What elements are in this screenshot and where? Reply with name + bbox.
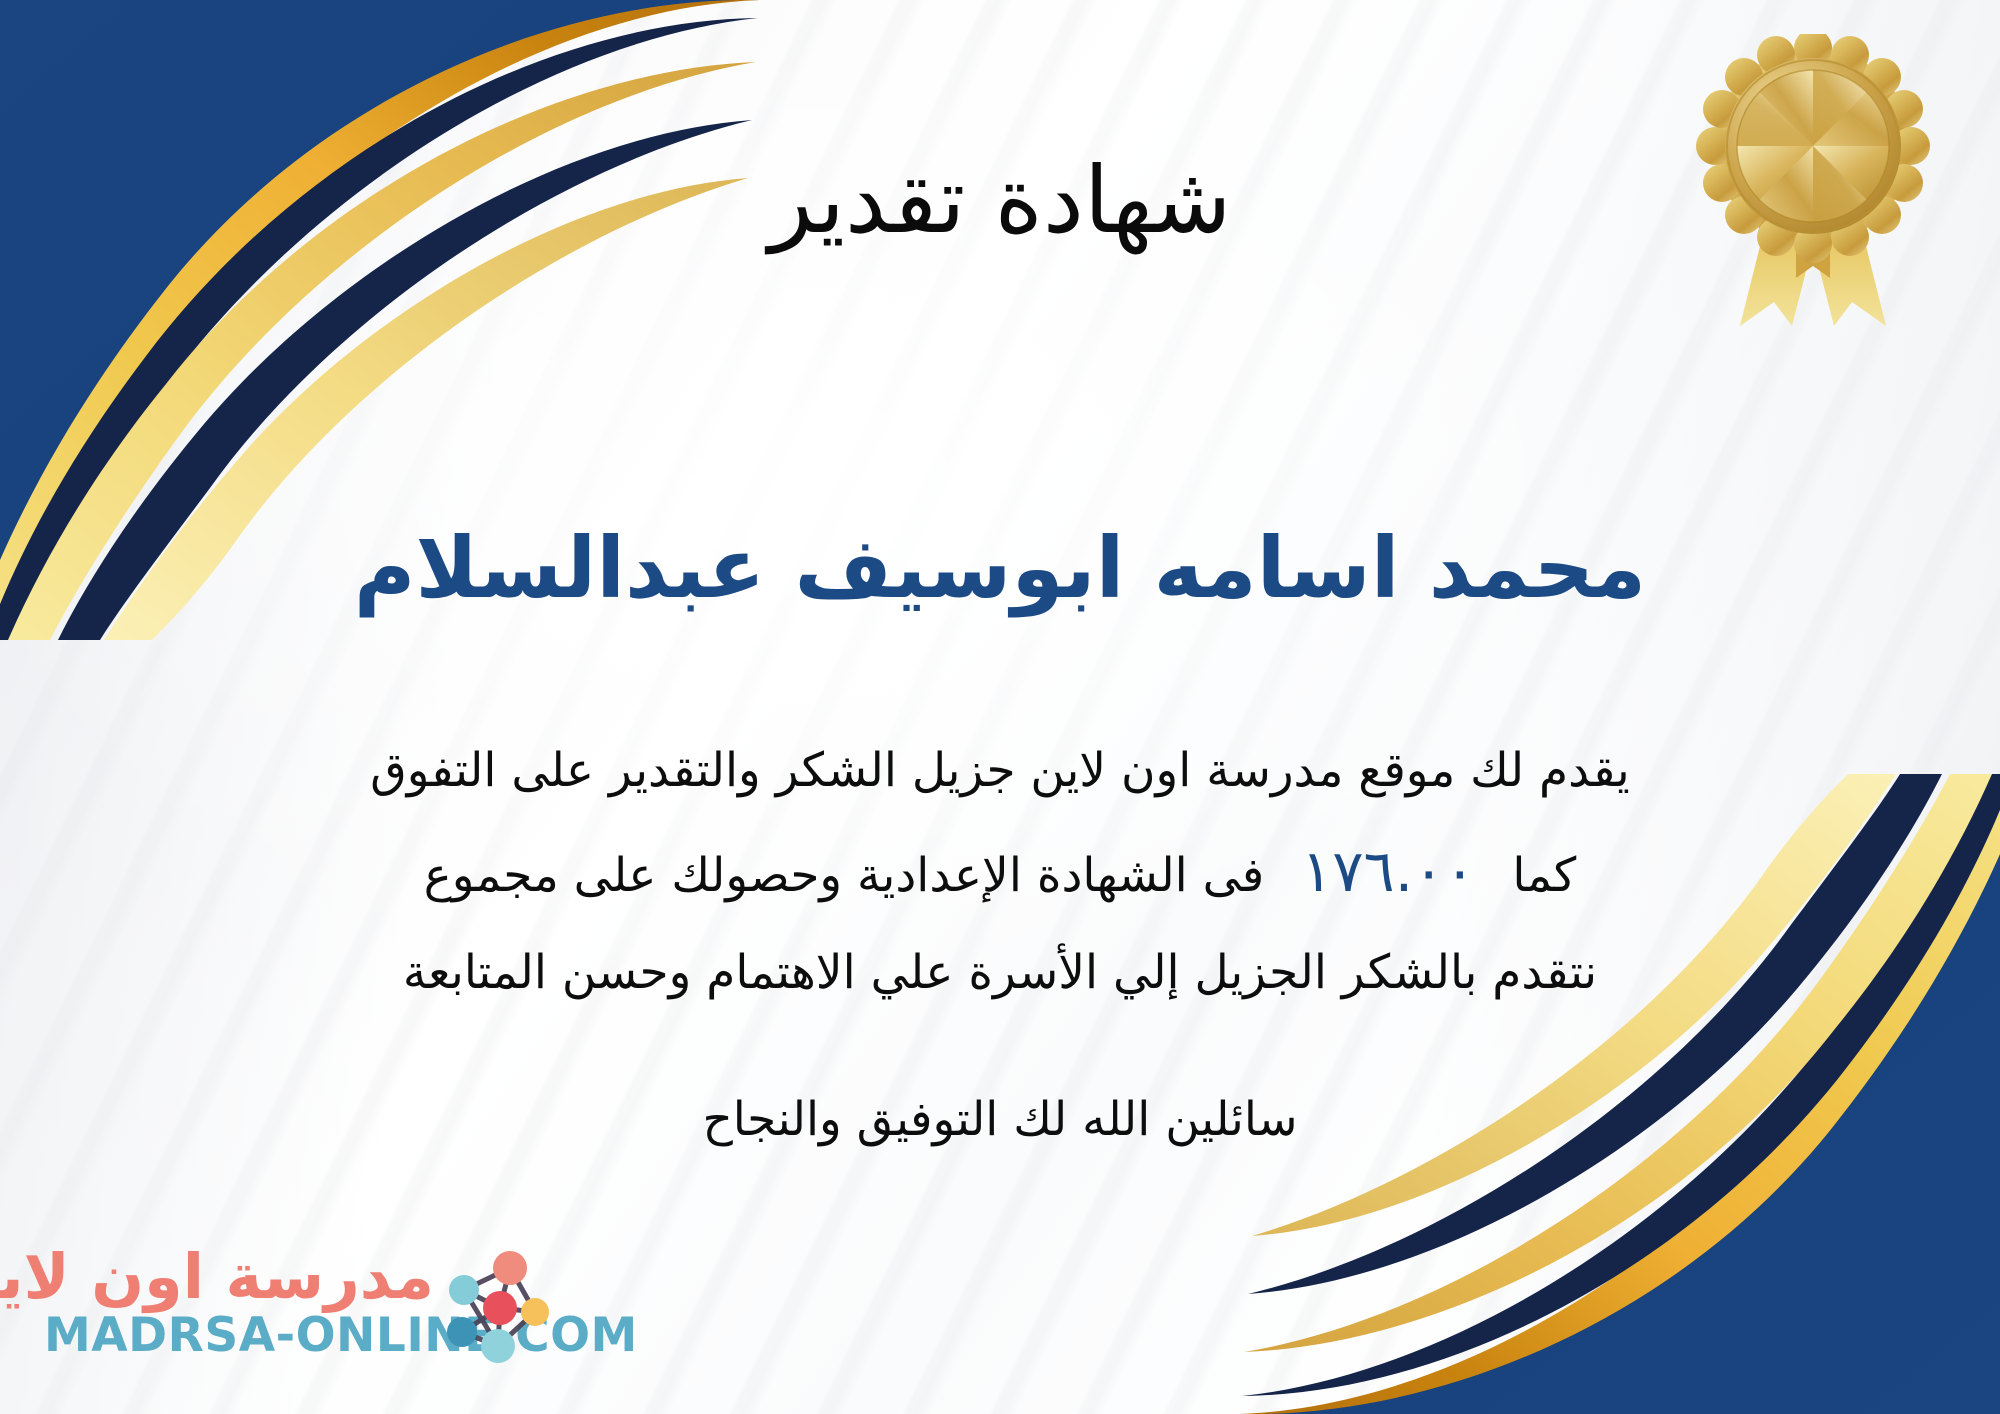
score-value: ١٧٦.٠٠ (1279, 837, 1497, 905)
closing-line: سائلين الله لك التوفيق والنجاح (0, 1092, 2000, 1147)
brand-logo[interactable]: مدرسة اون لاين MADRSA-ONLINE.COM (34, 1236, 554, 1396)
recipient-name: محمد اسامه ابوسيف عبدالسلام (0, 520, 2000, 617)
node-light-teal (449, 1275, 479, 1305)
body-line-two: كما ١٧٦.٠٠ فى الشهادة الإعدادية وحصولك ع… (60, 816, 1940, 927)
node-red (483, 1291, 517, 1325)
certificate-body: يقدم لك موقع مدرسة اون لاين جزيل الشكر و… (60, 726, 1940, 1018)
node-dark-teal (447, 1317, 477, 1347)
body-line-one: يقدم لك موقع مدرسة اون لاين جزيل الشكر و… (60, 726, 1940, 816)
node-yellow (521, 1298, 549, 1326)
node-salmon (493, 1251, 527, 1285)
brand-arabic-name: مدرسة اون لاين (44, 1244, 434, 1311)
brand-domain: MADRSA-ONLINE.COM (44, 1311, 434, 1362)
brand-text-rows: مدرسة اون لاين MADRSA-ONLINE.COM (44, 1244, 434, 1362)
page-title: شهادة تقدير (0, 150, 2000, 251)
body-line-two-suffix: كما (1512, 848, 1576, 903)
body-line-three: نتقدم بالشكر الجزيل إلي الأسرة علي الاهت… (60, 928, 1940, 1018)
certificate-page: شهادة تقدير محمد اسامه ابوسيف عبدالسلام … (0, 0, 2000, 1414)
body-line-two-prefix: فى الشهادة الإعدادية وحصولك على مجموع (424, 848, 1265, 903)
network-nodes-icon (434, 1246, 554, 1374)
node-aqua (481, 1329, 515, 1363)
